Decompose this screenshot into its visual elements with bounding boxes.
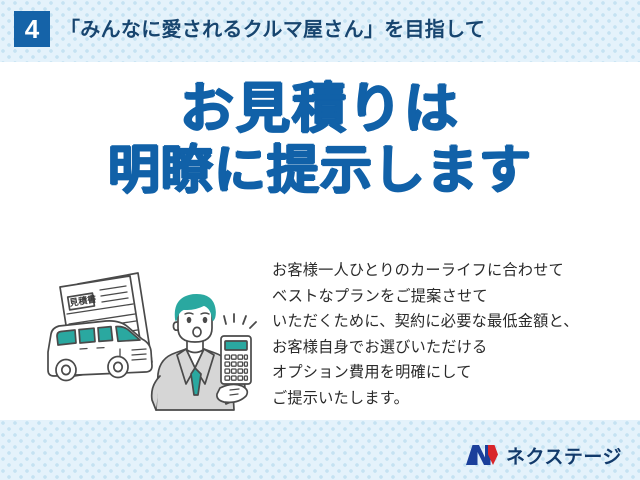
nextage-n-mark-icon — [465, 444, 499, 466]
headline-line-1: お見積りは — [0, 78, 640, 140]
calculator-icon — [221, 336, 251, 384]
body-copy-block: お客様一人ひとりのカーライフに合わせて ベストなプランをご提案させて いただくた… — [272, 258, 628, 412]
header-title: 「みんなに愛されるクルマ屋さん」を目指して — [60, 13, 485, 42]
header-bar: 4 「みんなに愛されるクルマ屋さん」を目指して — [0, 0, 640, 62]
body-copy-line: いただくために、契約に必要な最低金額と、 — [272, 309, 628, 335]
body-copy-line: ベストなプランをご提案させて — [272, 284, 628, 310]
section-number-badge: 4 — [14, 11, 50, 47]
body-copy-line: ご提示いたします。 — [272, 386, 628, 412]
sparkle-icon — [224, 314, 256, 328]
headline-line-2: 明瞭に提示します — [0, 140, 640, 202]
salesman-estimate-illustration: 見積書 — [34, 254, 274, 414]
brand-name: ネクステージ — [506, 442, 622, 469]
body-copy-line: お客様一人ひとりのカーライフに合わせて — [272, 258, 628, 284]
body-copy-line: お客様自身でお選びいただける — [272, 335, 628, 361]
slide-root: 4 「みんなに愛されるクルマ屋さん」を目指して お見積りは 明瞭に提示します お… — [0, 0, 640, 480]
body-copy-line: オプション費用を明確にして — [272, 360, 628, 386]
headline-block: お見積りは 明瞭に提示します — [0, 78, 640, 202]
brand-logo: ネクステージ — [465, 440, 622, 470]
content-panel: お見積りは 明瞭に提示します お客様一人ひとりのカーライフに合わせて ベストなプ… — [0, 62, 640, 420]
